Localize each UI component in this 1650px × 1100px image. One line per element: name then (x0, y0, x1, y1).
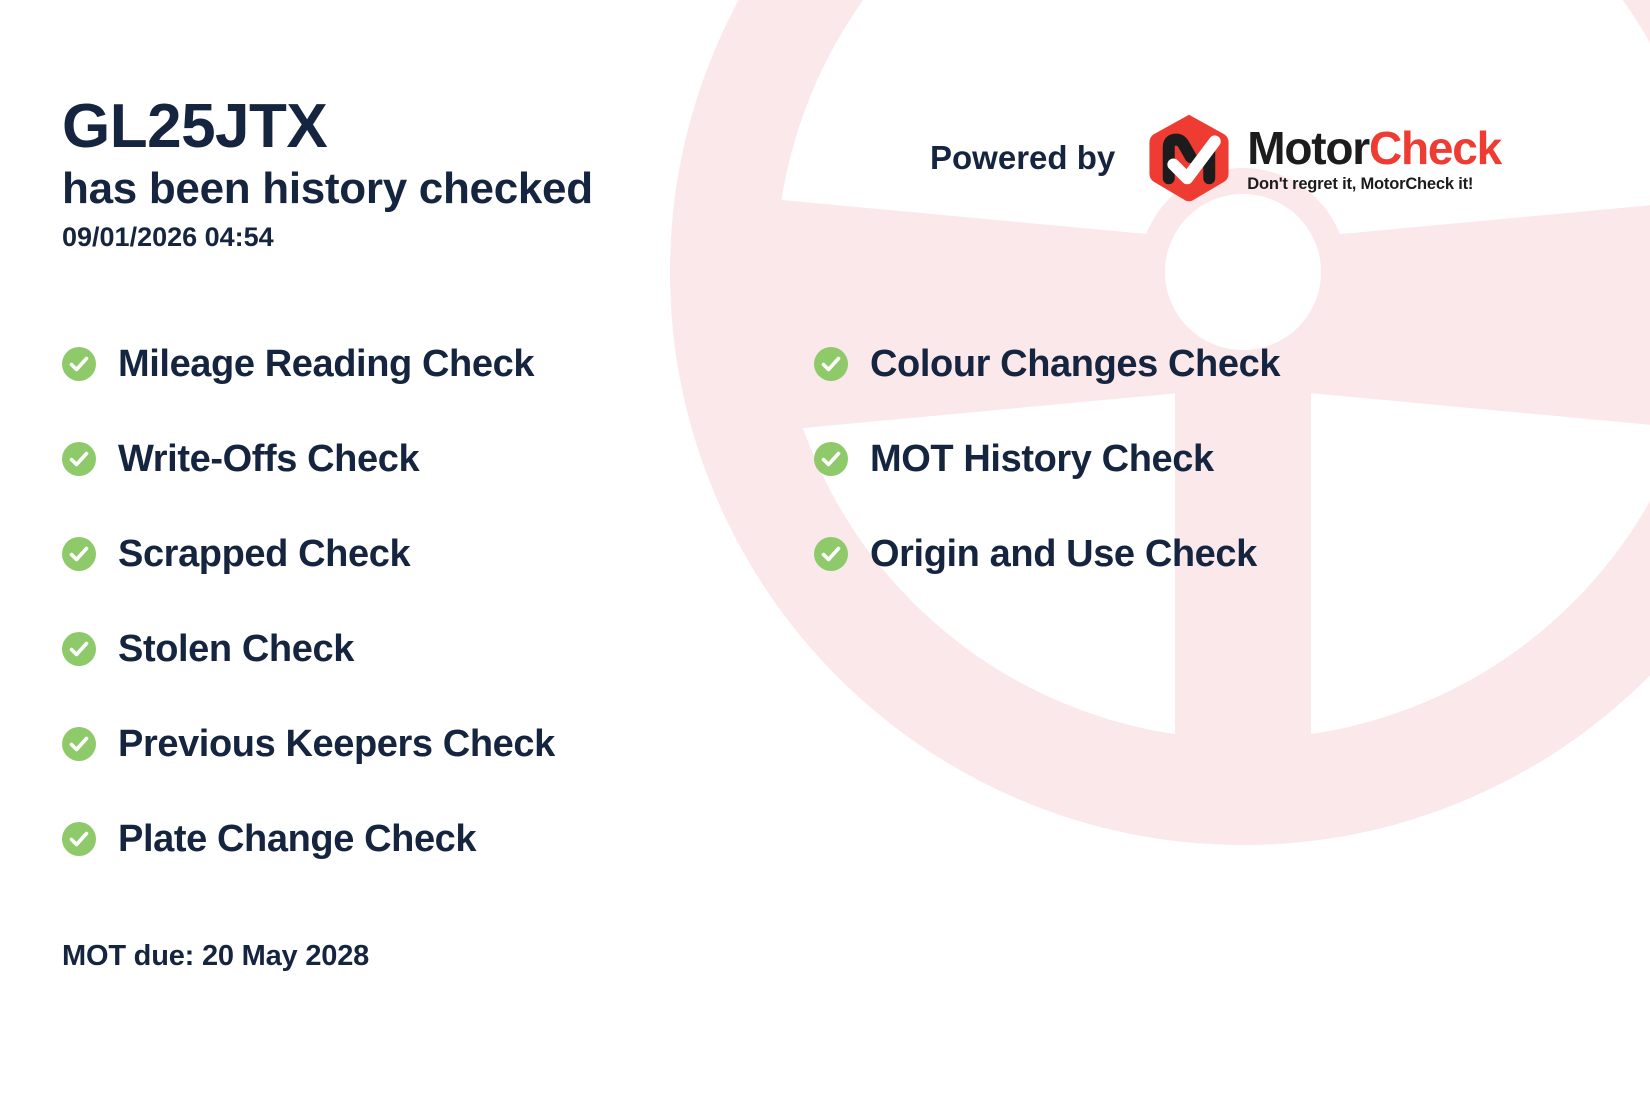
checks-column-left: Mileage Reading Check Write-Offs Check S… (62, 316, 802, 886)
green-check-circle-icon (62, 347, 96, 381)
green-check-circle-icon (62, 537, 96, 571)
check-item-stolen: Stolen Check (62, 601, 802, 696)
check-item-mileage-reading: Mileage Reading Check (62, 316, 802, 411)
check-item-mot-history: MOT History Check (814, 411, 1574, 506)
check-label: Mileage Reading Check (118, 345, 534, 383)
check-timestamp: 09/01/2026 04:54 (62, 221, 822, 253)
history-check-summary-card: GL25JTX has been history checked 09/01/2… (0, 0, 1650, 1100)
logo-tagline: Don't regret it, MotorCheck it! (1247, 175, 1501, 194)
page-title: has been history checked (62, 164, 822, 213)
green-check-circle-icon (62, 442, 96, 476)
wordmark-motor: Motor (1247, 122, 1369, 174)
vehicle-registration-plate: GL25JTX (62, 96, 822, 158)
green-check-circle-icon (814, 537, 848, 571)
green-check-circle-icon (814, 347, 848, 381)
check-label: Stolen Check (118, 630, 354, 668)
check-item-origin-and-use: Origin and Use Check (814, 506, 1574, 601)
green-check-circle-icon (62, 632, 96, 666)
check-label: Origin and Use Check (870, 535, 1257, 573)
check-label: MOT History Check (870, 440, 1214, 478)
check-label: Plate Change Check (118, 820, 476, 858)
green-check-circle-icon (62, 727, 96, 761)
mot-due-text: MOT due: 20 May 2028 (62, 940, 369, 973)
check-item-scrapped: Scrapped Check (62, 506, 802, 601)
motorcheck-wordmark: MotorCheck Don't regret it, MotorCheck i… (1247, 125, 1501, 194)
motorcheck-hexagon-logo-icon (1143, 112, 1235, 204)
green-check-circle-icon (814, 442, 848, 476)
check-item-plate-change: Plate Change Check (62, 791, 802, 886)
check-item-colour-changes: Colour Changes Check (814, 316, 1574, 411)
checks-column-right: Colour Changes Check MOT History Check O… (814, 316, 1574, 601)
check-label: Colour Changes Check (870, 345, 1280, 383)
powered-by-block: Powered by MotorCheck Don't regret it, M… (930, 112, 1501, 204)
check-item-write-offs: Write-Offs Check (62, 411, 802, 506)
powered-by-label: Powered by (930, 139, 1115, 177)
header: GL25JTX has been history checked 09/01/2… (62, 96, 822, 254)
green-check-circle-icon (62, 822, 96, 856)
motorcheck-logo[interactable]: MotorCheck Don't regret it, MotorCheck i… (1143, 112, 1501, 204)
check-label: Scrapped Check (118, 535, 410, 573)
check-label: Previous Keepers Check (118, 725, 555, 763)
check-item-previous-keepers: Previous Keepers Check (62, 696, 802, 791)
wordmark-check: Check (1369, 122, 1501, 174)
check-label: Write-Offs Check (118, 440, 419, 478)
